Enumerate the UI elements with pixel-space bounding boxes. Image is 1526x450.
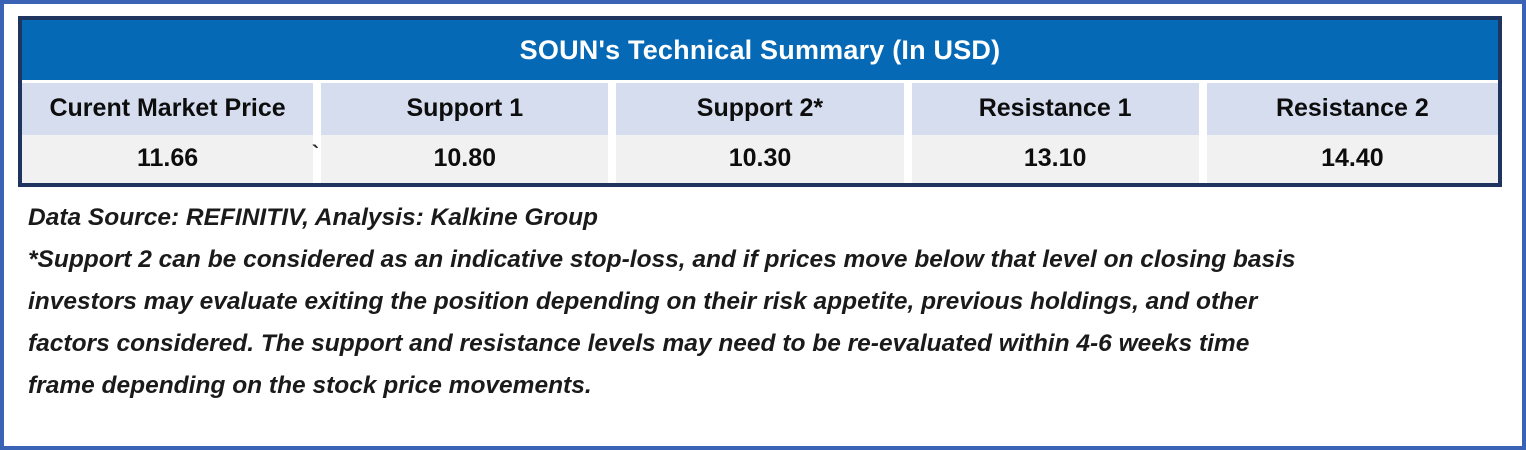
table-title-row: SOUN's Technical Summary (In USD) — [22, 20, 1498, 82]
disclaimer-line-3: factors considered. The support and resi… — [28, 323, 1506, 365]
value-support-1: 10.80 — [317, 135, 612, 183]
value-resistance-2: 14.40 — [1203, 135, 1498, 183]
data-source-line: Data Source: REFINITIV, Analysis: Kalkin… — [28, 197, 1506, 239]
table-value-row: 11.66 ` 10.80 10.30 13.10 14.40 — [22, 135, 1498, 183]
column-header-resistance-1: Resistance 1 — [908, 82, 1203, 135]
column-header-resistance-2: Resistance 2 — [1203, 82, 1498, 135]
value-resistance-1: 13.10 — [908, 135, 1203, 183]
disclaimer-line-2: investors may evaluate exiting the posit… — [28, 281, 1506, 323]
column-header-support-2: Support 2* — [612, 82, 907, 135]
card-inner: SOUN's Technical Summary (In USD) Curent… — [4, 4, 1522, 446]
value-support-2: 10.30 — [612, 135, 907, 183]
column-header-current-market-price: Curent Market Price — [22, 82, 317, 135]
footer-notes: Data Source: REFINITIV, Analysis: Kalkin… — [18, 187, 1508, 407]
disclaimer-line-1: *Support 2 can be considered as an indic… — [28, 239, 1506, 281]
value-current-market-price: 11.66 ` — [22, 135, 317, 183]
technical-summary-table-wrapper: SOUN's Technical Summary (In USD) Curent… — [18, 16, 1502, 187]
table-title: SOUN's Technical Summary (In USD) — [22, 20, 1498, 82]
table-header-row: Curent Market Price Support 1 Support 2*… — [22, 82, 1498, 135]
column-header-support-1: Support 1 — [317, 82, 612, 135]
technical-summary-table: SOUN's Technical Summary (In USD) Curent… — [22, 20, 1498, 183]
value-current-market-price-text: 11.66 — [137, 144, 198, 172]
technical-summary-card: SOUN's Technical Summary (In USD) Curent… — [0, 0, 1526, 450]
disclaimer-line-4: frame depending on the stock price movem… — [28, 365, 1506, 407]
